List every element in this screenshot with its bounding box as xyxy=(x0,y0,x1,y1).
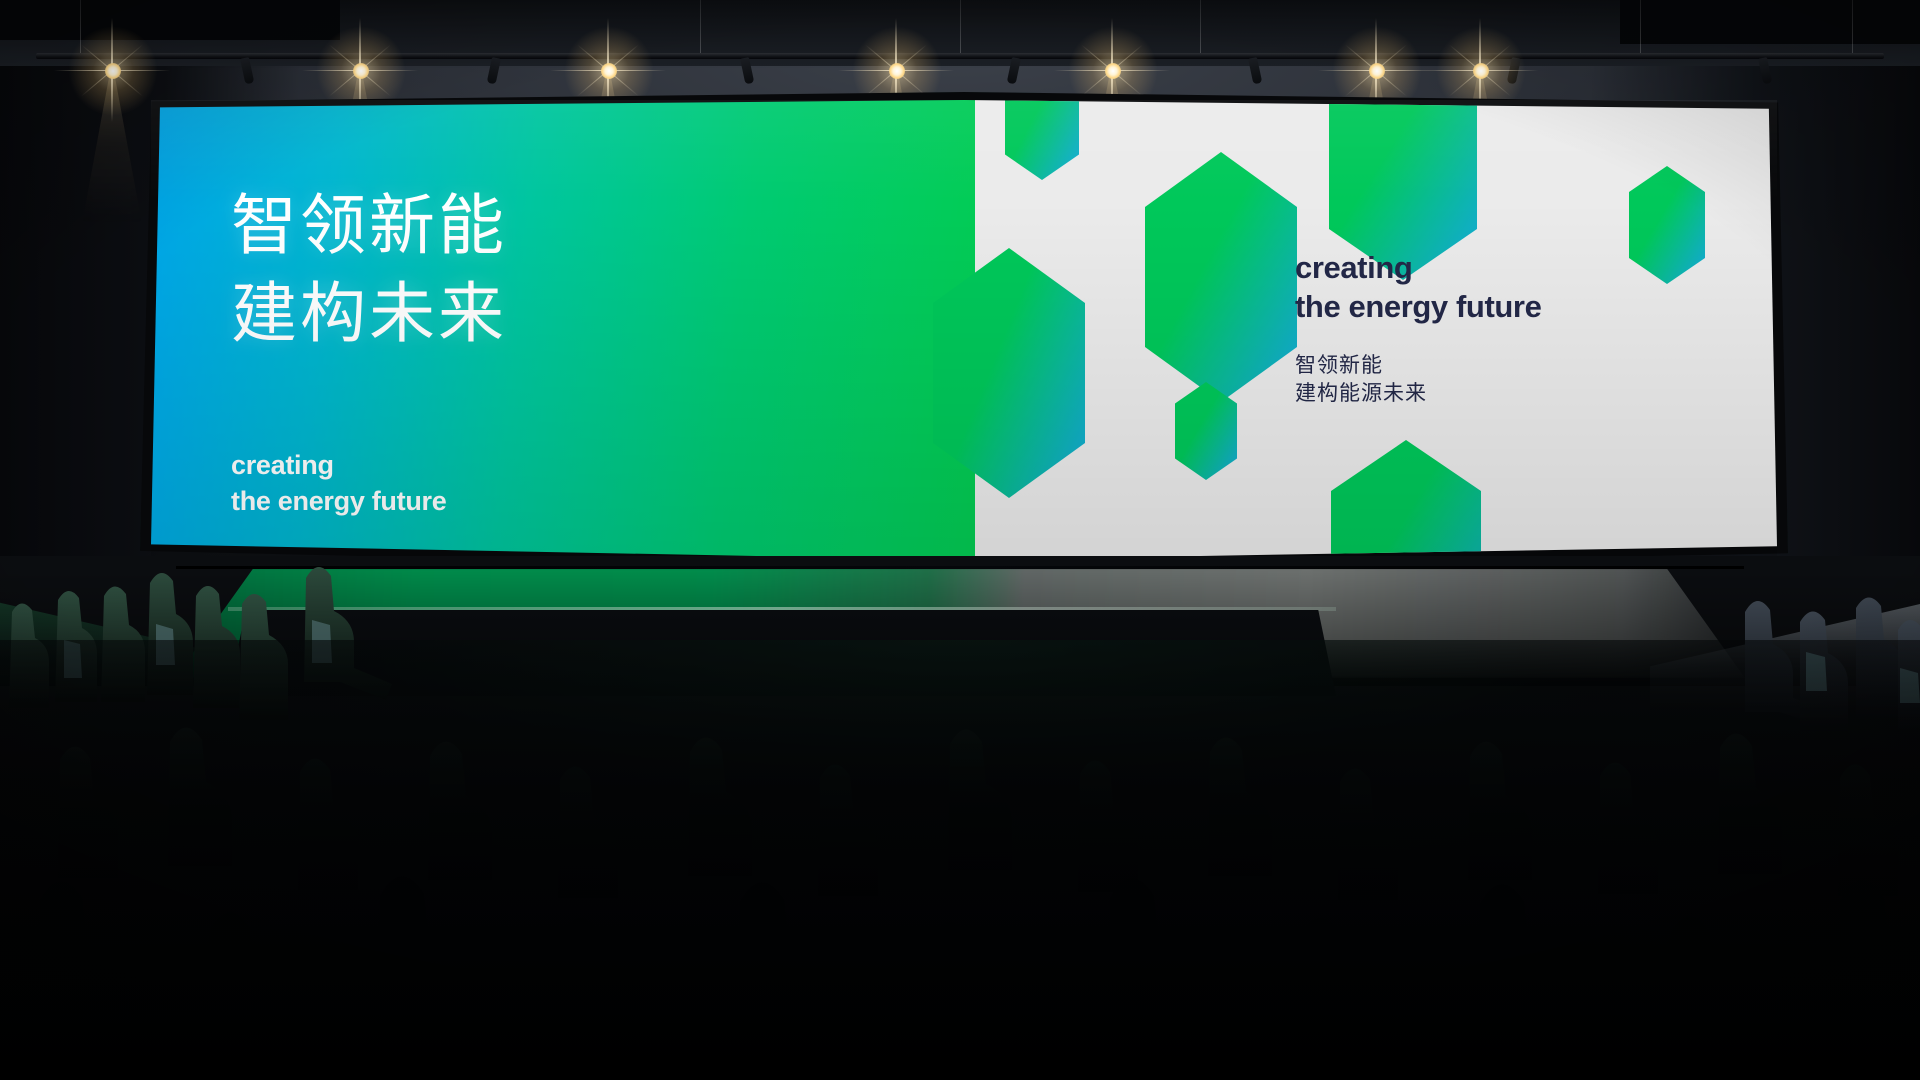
hex-top-small xyxy=(1005,100,1079,180)
spotlight-1 xyxy=(112,70,114,72)
screen-headline-chinese: 智领新能 建构未来 xyxy=(231,182,507,358)
lighting-truss xyxy=(36,53,1884,59)
auditorium-scene: 智领新能 建构未来 creating the energy future cre… xyxy=(0,0,1920,1080)
spotlight-core-7 xyxy=(1473,63,1489,79)
spotlight-core-1 xyxy=(105,63,121,79)
screen-subline-english: creating the energy future xyxy=(231,448,446,520)
truss-wire-6 xyxy=(1852,0,1853,53)
truss-wire-2 xyxy=(700,0,701,53)
ceiling-slab-left xyxy=(0,0,340,40)
spotlight-core-5 xyxy=(1105,63,1121,79)
screen-right-panel: creating the energy future 智领新能 建构能源未来 xyxy=(975,100,1777,560)
spotlight-5 xyxy=(1112,70,1114,72)
spotlight-core-2 xyxy=(353,63,369,79)
spotlight-6 xyxy=(1376,70,1378,72)
spotlight-core-3 xyxy=(601,63,617,79)
spotlight-3 xyxy=(608,70,610,72)
hex-bottom-right xyxy=(1331,440,1481,560)
led-screen[interactable]: 智领新能 建构未来 creating the energy future cre… xyxy=(151,100,1777,560)
hex-center-large xyxy=(1145,152,1297,402)
spotlight-core-6 xyxy=(1369,63,1385,79)
truss-wire-5 xyxy=(1640,0,1641,53)
screen-right-headline-chinese: 智领新能 建构能源未来 xyxy=(1295,352,1427,408)
spotlight-4 xyxy=(896,70,898,72)
screen-right-headline-english: creating the energy future xyxy=(1295,248,1541,326)
audience-darkness-veil xyxy=(0,640,1920,1080)
ceiling-slab-right xyxy=(1620,0,1920,44)
screen-left-panel: 智领新能 建构未来 creating the energy future xyxy=(151,100,975,560)
spotlight-core-4 xyxy=(889,63,905,79)
spotlight-2 xyxy=(360,70,362,72)
truss-wire-4 xyxy=(1200,0,1201,53)
spotlight-7 xyxy=(1480,70,1482,72)
truss-wire-3 xyxy=(960,0,961,53)
hex-far-right-small xyxy=(1629,166,1705,284)
